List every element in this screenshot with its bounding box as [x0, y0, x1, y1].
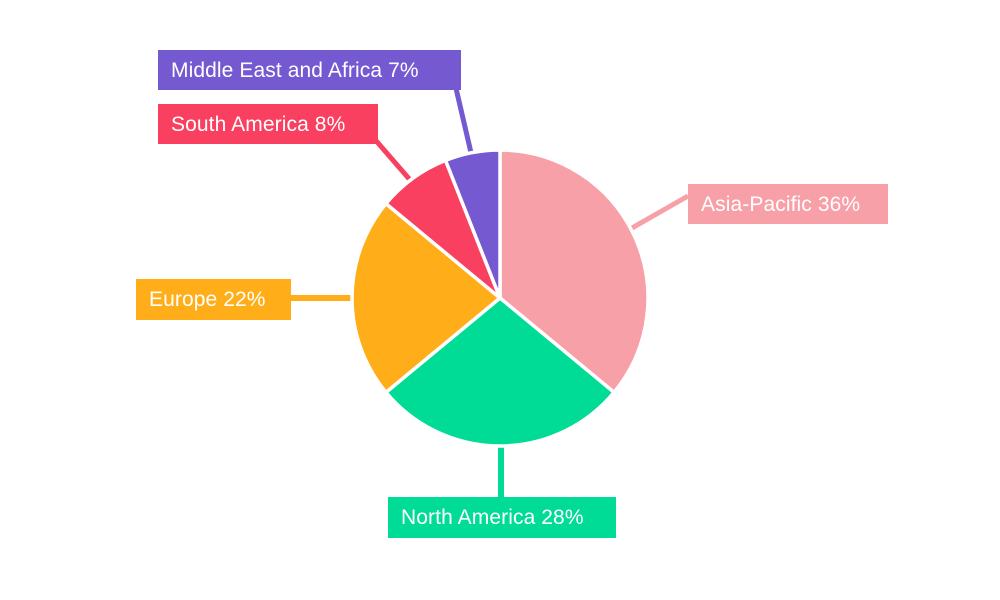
pie-chart-figure: Middle East and Africa 7% South America …: [0, 0, 1000, 600]
slice-label-south-america[interactable]: South America 8%: [158, 104, 378, 144]
slice-label-text: Asia-Pacific 36%: [701, 194, 860, 215]
slice-label-europe[interactable]: Europe 22%: [136, 279, 291, 320]
leader-line-middle-east-africa: [455, 84, 472, 157]
slice-label-text: South America 8%: [171, 114, 345, 135]
slice-label-text: Europe 22%: [149, 289, 266, 310]
slice-label-text: North America 28%: [401, 507, 584, 528]
slice-label-asia-pacific[interactable]: Asia-Pacific 36%: [688, 184, 888, 224]
leader-line-asia-pacific: [625, 196, 688, 232]
pie-slices: [352, 150, 648, 446]
slice-label-north-america[interactable]: North America 28%: [388, 497, 616, 538]
slice-label-text: Middle East and Africa 7%: [171, 60, 419, 81]
slice-label-middle-east-africa[interactable]: Middle East and Africa 7%: [158, 50, 461, 90]
